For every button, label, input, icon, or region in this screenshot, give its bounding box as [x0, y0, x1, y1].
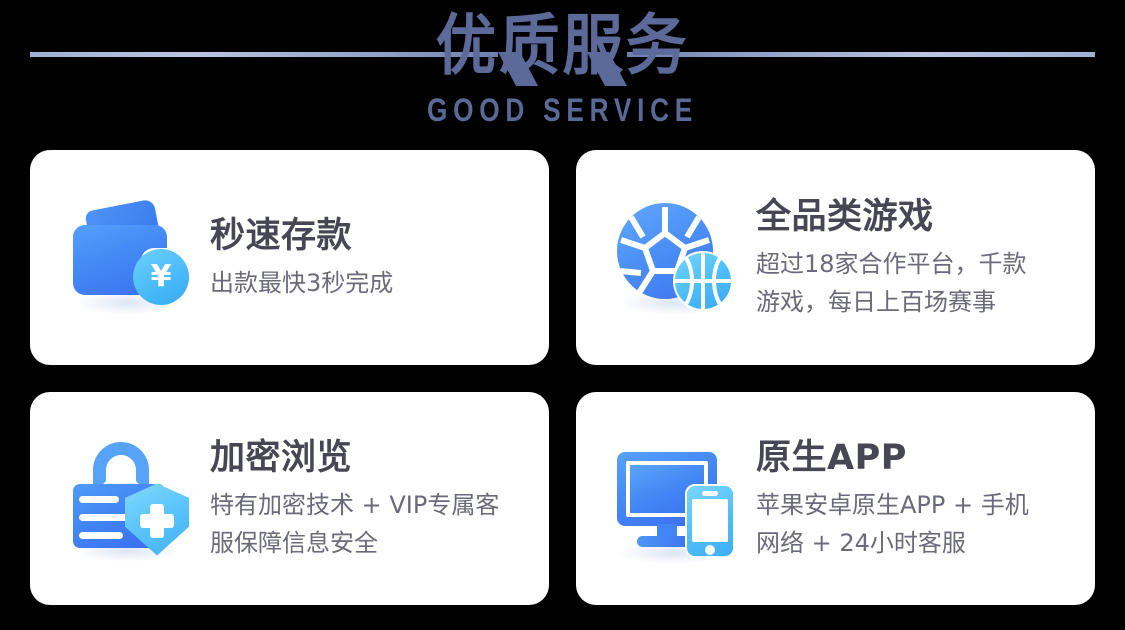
lock-stripe-icon — [79, 514, 129, 521]
card-desc-line: 游戏，每日上百场赛事 — [756, 283, 1073, 321]
card-desc-line: 苹果安卓原生APP + 手机 — [756, 486, 1073, 524]
basketball-icon — [673, 251, 733, 311]
feature-card-text: 加密浏览 特有加密技术 + VIP专属客 服保障信息安全 — [200, 436, 527, 562]
card-desc-line: 超过18家合作平台，千款 — [756, 245, 1073, 283]
card-title: 加密浏览 — [210, 436, 527, 480]
monitor-phone-icon — [604, 428, 746, 570]
lock-stripe-icon — [79, 532, 123, 539]
feature-card-games[interactable]: 全品类游戏 超过18家合作平台，千款 游戏，每日上百场赛事 — [576, 150, 1095, 365]
card-title: 全品类游戏 — [756, 195, 1073, 239]
header-title-block: 优质服务 GOOD SERVICE — [0, 0, 1125, 128]
shield-cross-icon — [140, 514, 174, 528]
phone-home-button-icon — [705, 545, 715, 555]
card-desc-line: 服保障信息安全 — [210, 524, 527, 562]
wallet-coin-icon: ¥ — [58, 187, 200, 329]
page-title: 优质服务 — [45, 0, 1080, 92]
card-desc-line: 网络 + 24小时客服 — [756, 524, 1073, 562]
lock-stripe-icon — [79, 496, 119, 503]
page-root: 优质服务 GOOD SERVICE ¥ 秒速存款 出款最快3秒完成 — [0, 0, 1125, 630]
section-header: 优质服务 GOOD SERVICE — [0, 0, 1125, 145]
feature-card-native-app[interactable]: 原生APP 苹果安卓原生APP + 手机 网络 + 24小时客服 — [576, 392, 1095, 605]
card-desc-line: 出款最快3秒完成 — [210, 264, 527, 302]
feature-card-text: 原生APP 苹果安卓原生APP + 手机 网络 + 24小时客服 — [746, 436, 1073, 562]
page-subtitle: GOOD SERVICE — [101, 92, 1024, 128]
soccer-basketball-icon — [604, 187, 746, 329]
card-title: 秒速存款 — [210, 214, 527, 258]
lock-shield-icon — [58, 428, 200, 570]
phone-speaker-icon — [702, 491, 718, 496]
feature-card-grid: ¥ 秒速存款 出款最快3秒完成 — [30, 150, 1095, 605]
feature-card-text: 全品类游戏 超过18家合作平台，千款 游戏，每日上百场赛事 — [746, 195, 1073, 321]
feature-card-text: 秒速存款 出款最快3秒完成 — [200, 214, 527, 302]
phone-screen-icon — [692, 499, 728, 542]
card-title: 原生APP — [756, 436, 1073, 480]
feature-card-encryption[interactable]: 加密浏览 特有加密技术 + VIP专属客 服保障信息安全 — [30, 392, 549, 605]
yen-coin-icon: ¥ — [133, 249, 189, 305]
feature-card-deposit[interactable]: ¥ 秒速存款 出款最快3秒完成 — [30, 150, 549, 365]
card-desc-line: 特有加密技术 + VIP专属客 — [210, 486, 527, 524]
